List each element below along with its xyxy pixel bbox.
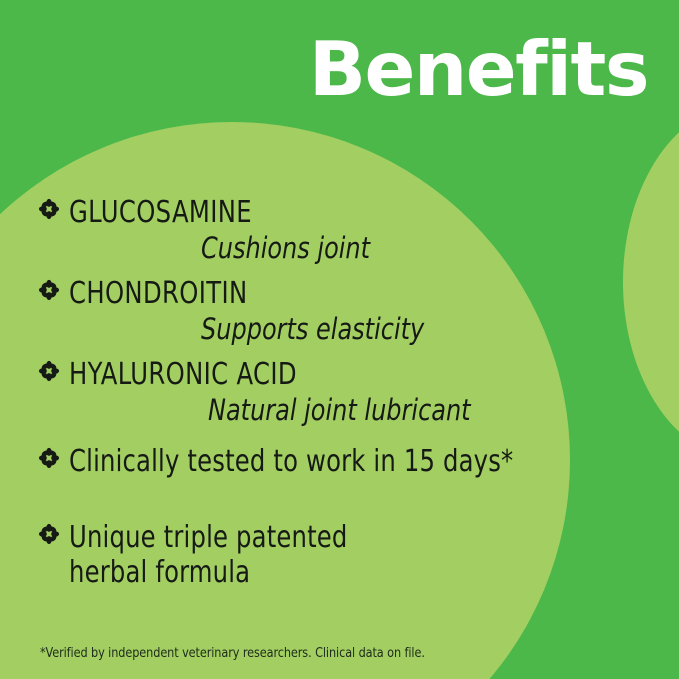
benefit-item-clinically-tested: Clinically tested to work in 15 days*: [38, 445, 638, 479]
benefit-headline: GLUCOSAMINE: [69, 196, 252, 230]
flower-asterisk-bullet-icon: [38, 360, 60, 390]
flower-asterisk-bullet-icon: [38, 523, 60, 553]
benefit-item-triple-patented: Unique triple patented herbal formula: [38, 521, 638, 590]
benefit-headline: CHONDROITIN: [69, 277, 248, 311]
benefit-item-hyaluronic-acid: HYALURONIC ACID Natural joint lubricant: [38, 358, 638, 427]
benefit-headline: Clinically tested to work in 15 days*: [69, 445, 513, 479]
flower-asterisk-bullet-icon: [38, 447, 60, 477]
benefit-subline: Supports elasticity: [201, 313, 603, 346]
benefit-item-glucosamine: GLUCOSAMINE Cushions joint: [38, 196, 638, 265]
flower-asterisk-bullet-icon: [38, 279, 60, 309]
benefit-subline: Cushions joint: [201, 232, 603, 265]
benefit-headline: Unique triple patented: [69, 521, 348, 555]
benefit-item-chondroitin: CHONDROITIN Supports elasticity: [38, 277, 638, 346]
benefit-subline: Natural joint lubricant: [208, 394, 604, 427]
benefit-headline: HYALURONIC ACID: [69, 358, 297, 392]
flower-asterisk-bullet-icon: [38, 198, 60, 228]
benefits-poster: Benefits: [0, 0, 679, 679]
benefits-list: GLUCOSAMINE Cushions joint: [38, 196, 638, 602]
page-title: Benefits: [0, 30, 648, 108]
footnote-disclaimer: *Verified by independent veterinary rese…: [40, 645, 425, 661]
benefit-headline-line2: herbal formula: [69, 556, 581, 590]
